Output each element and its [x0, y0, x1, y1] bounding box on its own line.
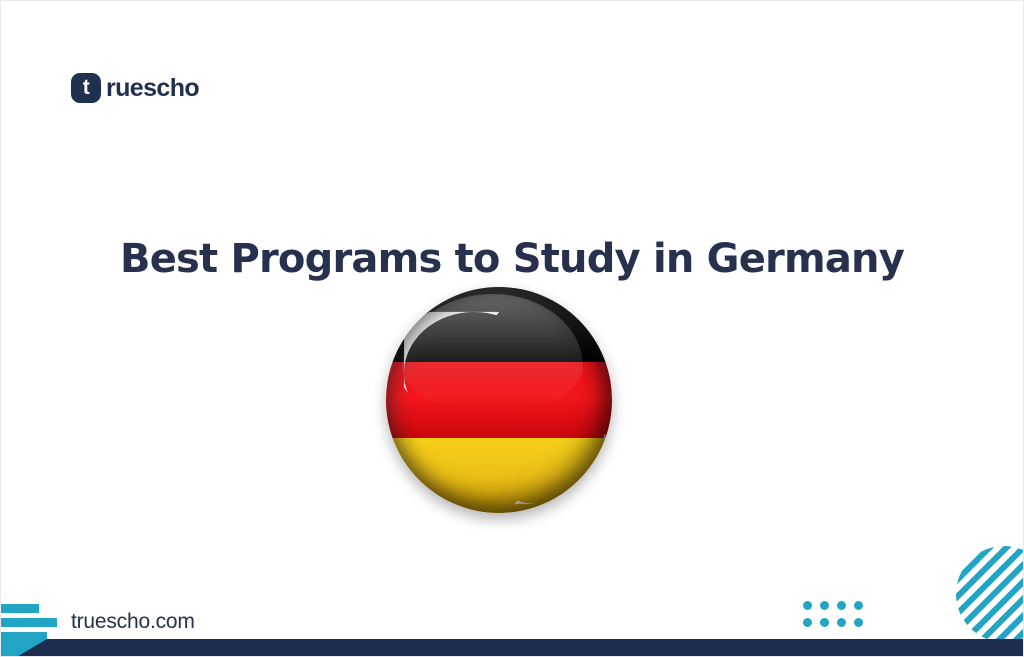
footer-wedge-accent [1, 639, 47, 656]
flag-band-gold [386, 438, 612, 513]
dot [803, 601, 812, 610]
dot [820, 601, 829, 610]
corner-bar-1 [1, 604, 39, 613]
flag-band-black [386, 287, 612, 362]
brand-wordmark: ruescho [106, 76, 199, 101]
page-title: Best Programs to Study in Germany [1, 237, 1023, 281]
corner-bar-decoration [1, 604, 57, 641]
footer-band [1, 639, 1023, 656]
footer-website-url[interactable]: truescho.com [71, 611, 195, 632]
dot [854, 601, 863, 610]
dot [820, 618, 829, 627]
truescho-logo-icon: t [71, 73, 101, 103]
dot-grid-decoration [803, 601, 863, 627]
dot [803, 618, 812, 627]
dot [837, 601, 846, 610]
slide-canvas: t ruescho Best Programs to Study in Germ… [0, 0, 1024, 657]
flag-orb-body [386, 287, 612, 513]
germany-flag-orb-icon [386, 287, 612, 513]
flag-band-red [386, 362, 612, 437]
dot [854, 618, 863, 627]
brand-logo[interactable]: t ruescho [71, 73, 199, 103]
striped-circle-decoration [956, 546, 1024, 642]
corner-bar-2 [1, 618, 57, 627]
dot [837, 618, 846, 627]
brand-mark-letter: t [83, 77, 90, 98]
